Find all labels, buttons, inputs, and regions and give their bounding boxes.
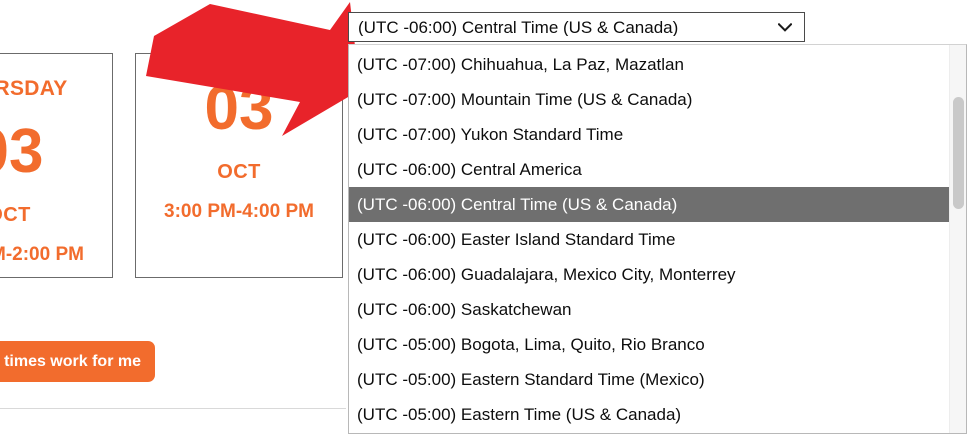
date-card-thursday[interactable]: THURSDAY 03 OCT 1:00 PM-2:00 PM	[0, 53, 113, 278]
date-card-month: OCT	[0, 205, 112, 225]
page-root: THURSDAY 03 OCT 1:00 PM-2:00 PM 03 OCT 3…	[0, 0, 967, 430]
timezone-select-value: (UTC -06:00) Central Time (US & Canada)	[358, 19, 778, 36]
timezone-option[interactable]: (UTC -06:00) Central Time (US & Canada)	[349, 187, 949, 222]
timezone-option[interactable]: (UTC -06:00) Guadalajara, Mexico City, M…	[349, 257, 949, 292]
timezone-option[interactable]: (UTC -07:00) Yukon Standard Time	[349, 117, 949, 152]
timezone-option-list: (UTC -07:00) Chihuahua, La Paz, Mazatlan…	[349, 45, 949, 433]
timezone-dropdown-list[interactable]: (UTC -07:00) Chihuahua, La Paz, Mazatlan…	[348, 44, 967, 434]
timezone-option[interactable]: (UTC -05:00) Eastern Time (US & Canada)	[349, 397, 949, 432]
date-card-second-slot[interactable]: 03 OCT 3:00 PM-4:00 PM	[135, 53, 343, 278]
timezone-option[interactable]: (UTC -06:00) Easter Island Standard Time	[349, 222, 949, 257]
timezone-option[interactable]: (UTC -07:00) Mountain Time (US & Canada)	[349, 82, 949, 117]
dropdown-scrollbar-thumb[interactable]	[953, 97, 964, 209]
timezone-option[interactable]: (UTC -07:00) Chihuahua, La Paz, Mazatlan	[349, 47, 949, 82]
date-card-day: 03	[0, 121, 112, 183]
timezone-option[interactable]: (UTC -05:00) Eastern Standard Time (Mexi…	[349, 362, 949, 397]
timezone-option[interactable]: (UTC -05:00) Bogota, Lima, Quito, Rio Br…	[349, 327, 949, 362]
date-card-month: OCT	[136, 162, 342, 182]
date-card-weekday: THURSDAY	[0, 78, 112, 99]
dropdown-scrollbar[interactable]	[949, 45, 966, 433]
date-card-time: 3:00 PM-4:00 PM	[136, 202, 342, 221]
timezone-select[interactable]: (UTC -06:00) Central Time (US & Canada)	[348, 12, 805, 42]
timezone-option[interactable]: (UTC -06:00) Central America	[349, 152, 949, 187]
date-card-time: 1:00 PM-2:00 PM	[0, 245, 112, 264]
panel-divider	[0, 408, 346, 409]
timezone-option[interactable]: (UTC -06:00) Saskatchewan	[349, 292, 949, 327]
times-work-for-me-button[interactable]: times work for me	[0, 341, 155, 382]
chevron-down-icon[interactable]	[778, 23, 792, 32]
date-card-day: 03	[136, 78, 342, 140]
